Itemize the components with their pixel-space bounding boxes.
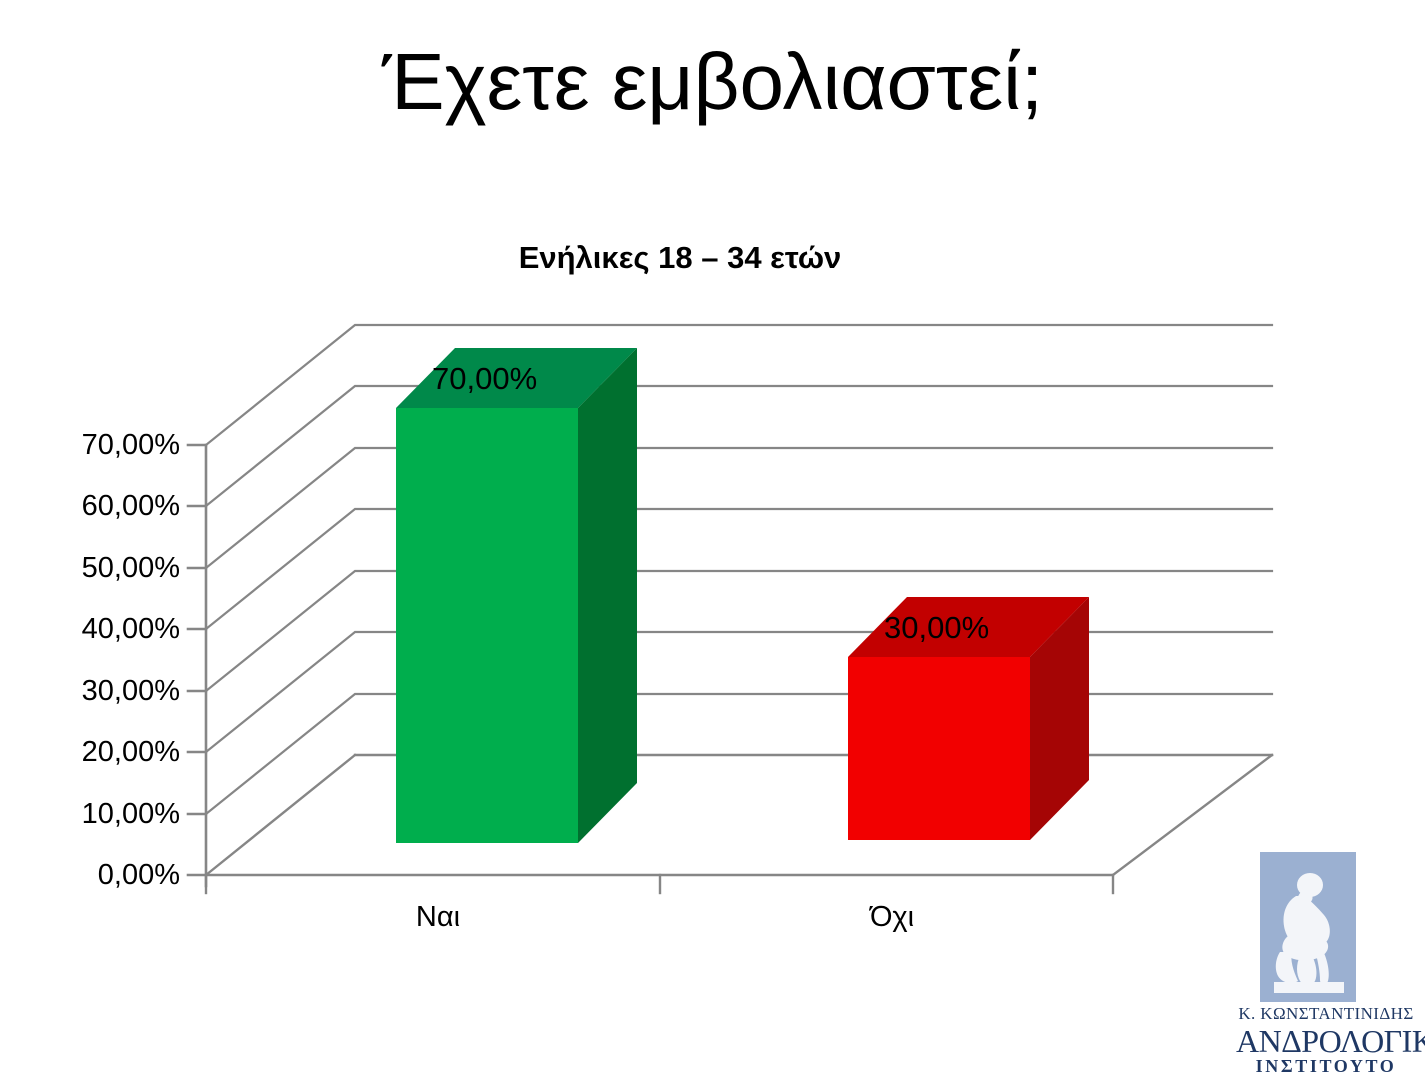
ytick-label-10: 10,00% [60,799,180,829]
gridlines [206,325,1272,814]
xtick-label-nai: Ναι [358,900,518,934]
the-thinker-statue-icon [1260,852,1356,1002]
logo-line-name: Κ. ΚΩΝΣΤΑΝΤΙΝΙΔΗΣ [1236,1004,1416,1024]
y-axis-tick-labels: 70,00% 60,00% 50,00% 40,00% 30,00% 20,00… [58,0,180,1080]
ytick-label-70: 70,00% [60,430,180,460]
chart-3d-bar: Ενήλικες 18 – 34 ετών [0,0,1425,1080]
institute-logo: Κ. ΚΩΝΣΤΑΝΤΙΝΙΔΗΣ ΑΝΔΡΟΛΟΓΙΚΟ ΙΝΣΤΙΤΟΥΤΟ [1236,852,1416,1074]
bar-nai-front-face [396,408,578,843]
ytick-label-50: 50,00% [60,553,180,583]
floor-plane [206,755,1272,875]
ytick-label-60: 60,00% [60,491,180,521]
logo-line-institouto: ΙΝΣΤΙΤΟΥΤΟ [1236,1056,1416,1076]
ytick-label-20: 20,00% [60,737,180,767]
gridline-40 [206,509,1272,629]
ytick-label-0: 0,00% [60,860,180,890]
data-label-ochi: 30,00% [884,611,989,645]
ytick-label-40: 40,00% [60,614,180,644]
gridline-20 [206,632,1272,752]
gridline-60 [206,386,1272,506]
bar-nai[interactable] [396,348,637,843]
bar-ochi-front-face [848,657,1030,840]
logo-line-androlologiko: ΑΝΔΡΟΛΟΓΙΚΟ [1236,1024,1416,1058]
xtick-label-ochi: Όχι [812,900,972,934]
bar-nai-side-face [578,348,637,843]
plot-canvas [0,0,1425,1080]
data-label-nai: 70,00% [432,362,537,396]
category-axis-ticks [206,875,1113,893]
value-axis [188,445,206,886]
floor-left-depth-edge [206,755,355,875]
ytick-label-30: 30,00% [60,676,180,706]
